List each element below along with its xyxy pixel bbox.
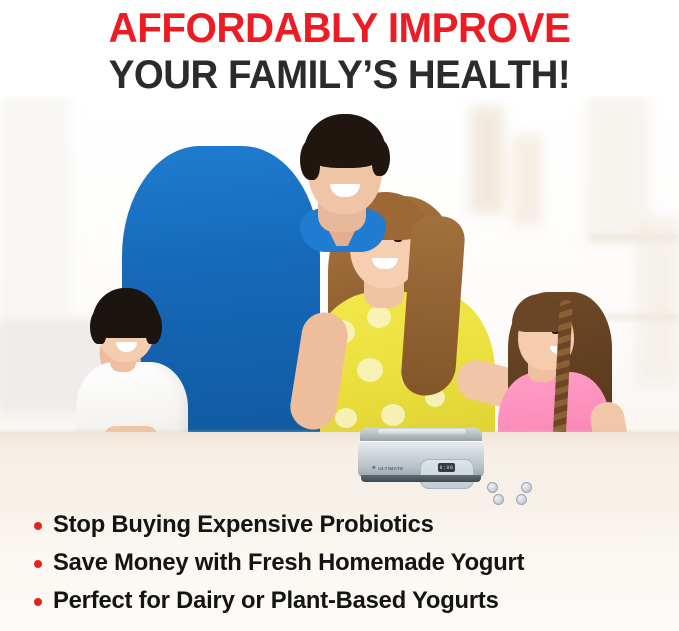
table-surface	[0, 432, 679, 506]
lifestyle-photo	[0, 96, 679, 506]
bullet-dot-icon	[34, 598, 42, 606]
smile	[372, 258, 398, 269]
background-shelf-1	[590, 234, 679, 241]
appliance-body: ❄ ULTIMATE 8:00	[358, 441, 484, 477]
bullet-dot-icon	[34, 522, 42, 530]
appliance-brand-label: ULTIMATE	[378, 466, 403, 471]
polka-dot	[357, 358, 383, 382]
headline-block: AFFORDABLY IMPROVE YOUR FAMILY’S HEALTH!	[0, 0, 679, 104]
appliance-button-up[interactable]	[487, 482, 498, 493]
benefit-text-1: Stop Buying Expensive Probiotics	[53, 511, 434, 539]
background-frame-1	[470, 106, 504, 214]
background-cabinet	[636, 216, 679, 386]
appliance-button-down[interactable]	[521, 482, 532, 493]
appliance-button-start[interactable]	[493, 494, 504, 505]
benefit-text-3: Perfect for Dairy or Plant-Based Yogurts	[53, 587, 499, 615]
background-frame-2	[512, 134, 542, 226]
father-hair-left	[300, 140, 320, 180]
snowflake-icon: ❄	[372, 465, 376, 471]
appliance-lid-highlight	[378, 429, 466, 434]
headline-line-2: YOUR FAMILY’S HEALTH!	[14, 53, 666, 97]
smile	[116, 342, 137, 352]
polka-dot	[367, 306, 391, 328]
polka-dot	[381, 404, 405, 426]
headline-line-1: AFFORDABLY IMPROVE	[14, 5, 666, 51]
yogurt-maker-appliance: ❄ ULTIMATE 8:00	[358, 428, 484, 484]
boy-hair-left	[90, 310, 106, 344]
product-advertisement: AFFORDABLY IMPROVE YOUR FAMILY’S HEALTH!	[0, 0, 679, 631]
background-wall-panel	[0, 96, 70, 316]
benefit-text-2: Save Money with Fresh Homemade Yogurt	[53, 549, 524, 577]
appliance-display: 8:00	[438, 463, 455, 472]
benefits-list: Stop Buying Expensive Probiotics Save Mo…	[0, 506, 679, 631]
appliance-brand: ❄ ULTIMATE	[372, 465, 404, 471]
appliance-button-power[interactable]	[516, 494, 527, 505]
list-item: Save Money with Fresh Homemade Yogurt	[0, 544, 679, 582]
background-shelf-2	[604, 314, 679, 320]
boy-hair-right	[146, 310, 162, 344]
polka-dot	[335, 408, 357, 428]
appliance-base	[361, 475, 481, 482]
bullet-dot-icon	[34, 560, 42, 568]
list-item: Stop Buying Expensive Probiotics	[0, 506, 679, 544]
smile	[330, 184, 360, 197]
list-item: Perfect for Dairy or Plant-Based Yogurts	[0, 582, 679, 620]
father-hair-right	[372, 140, 390, 176]
